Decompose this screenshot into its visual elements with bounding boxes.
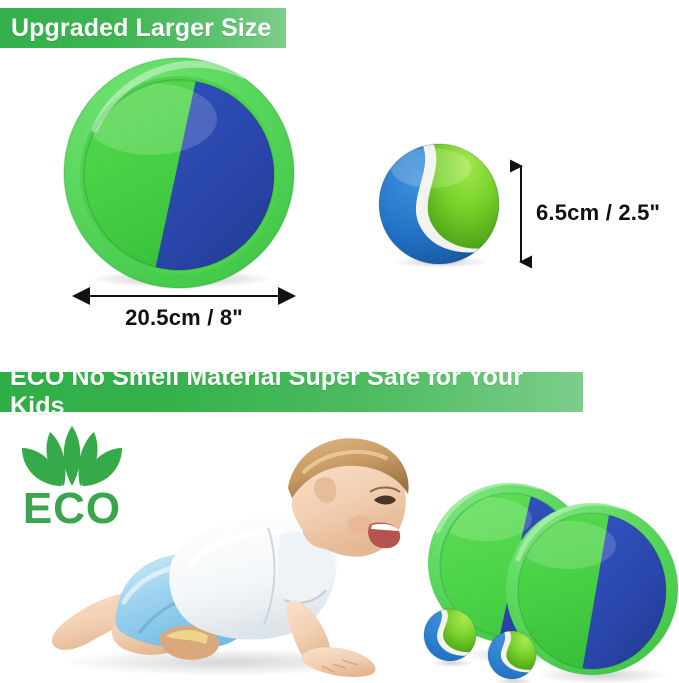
banner-eco-material-label: ECO No Smell Material Super Safe for You…	[10, 363, 583, 421]
baby-cheek	[348, 515, 372, 533]
infographic-page: Upgraded Larger Size	[0, 0, 679, 683]
paddle-width-arrow	[66, 286, 302, 306]
ball-diameter-arrow	[510, 158, 532, 270]
paddle-width-label: 20.5cm / 8"	[66, 305, 302, 331]
catch-ball-large	[377, 142, 503, 268]
banner-eco-material: ECO No Smell Material Super Safe for You…	[0, 372, 583, 412]
eco-leaf-center	[64, 426, 81, 486]
ball-large-sheen	[391, 148, 471, 188]
catch-paddle-large	[63, 57, 295, 289]
eco-leaves-icon	[14, 424, 130, 492]
banner-upgraded-size-label: Upgraded Larger Size	[11, 14, 271, 43]
product-group-paddles-and-balls	[412, 483, 679, 683]
banner-upgraded-size: Upgraded Larger Size	[0, 8, 286, 48]
eco-logo: ECO	[14, 424, 130, 536]
ball-diameter-label: 6.5cm / 2.5"	[536, 200, 660, 226]
eco-logo-label: ECO	[14, 486, 130, 532]
